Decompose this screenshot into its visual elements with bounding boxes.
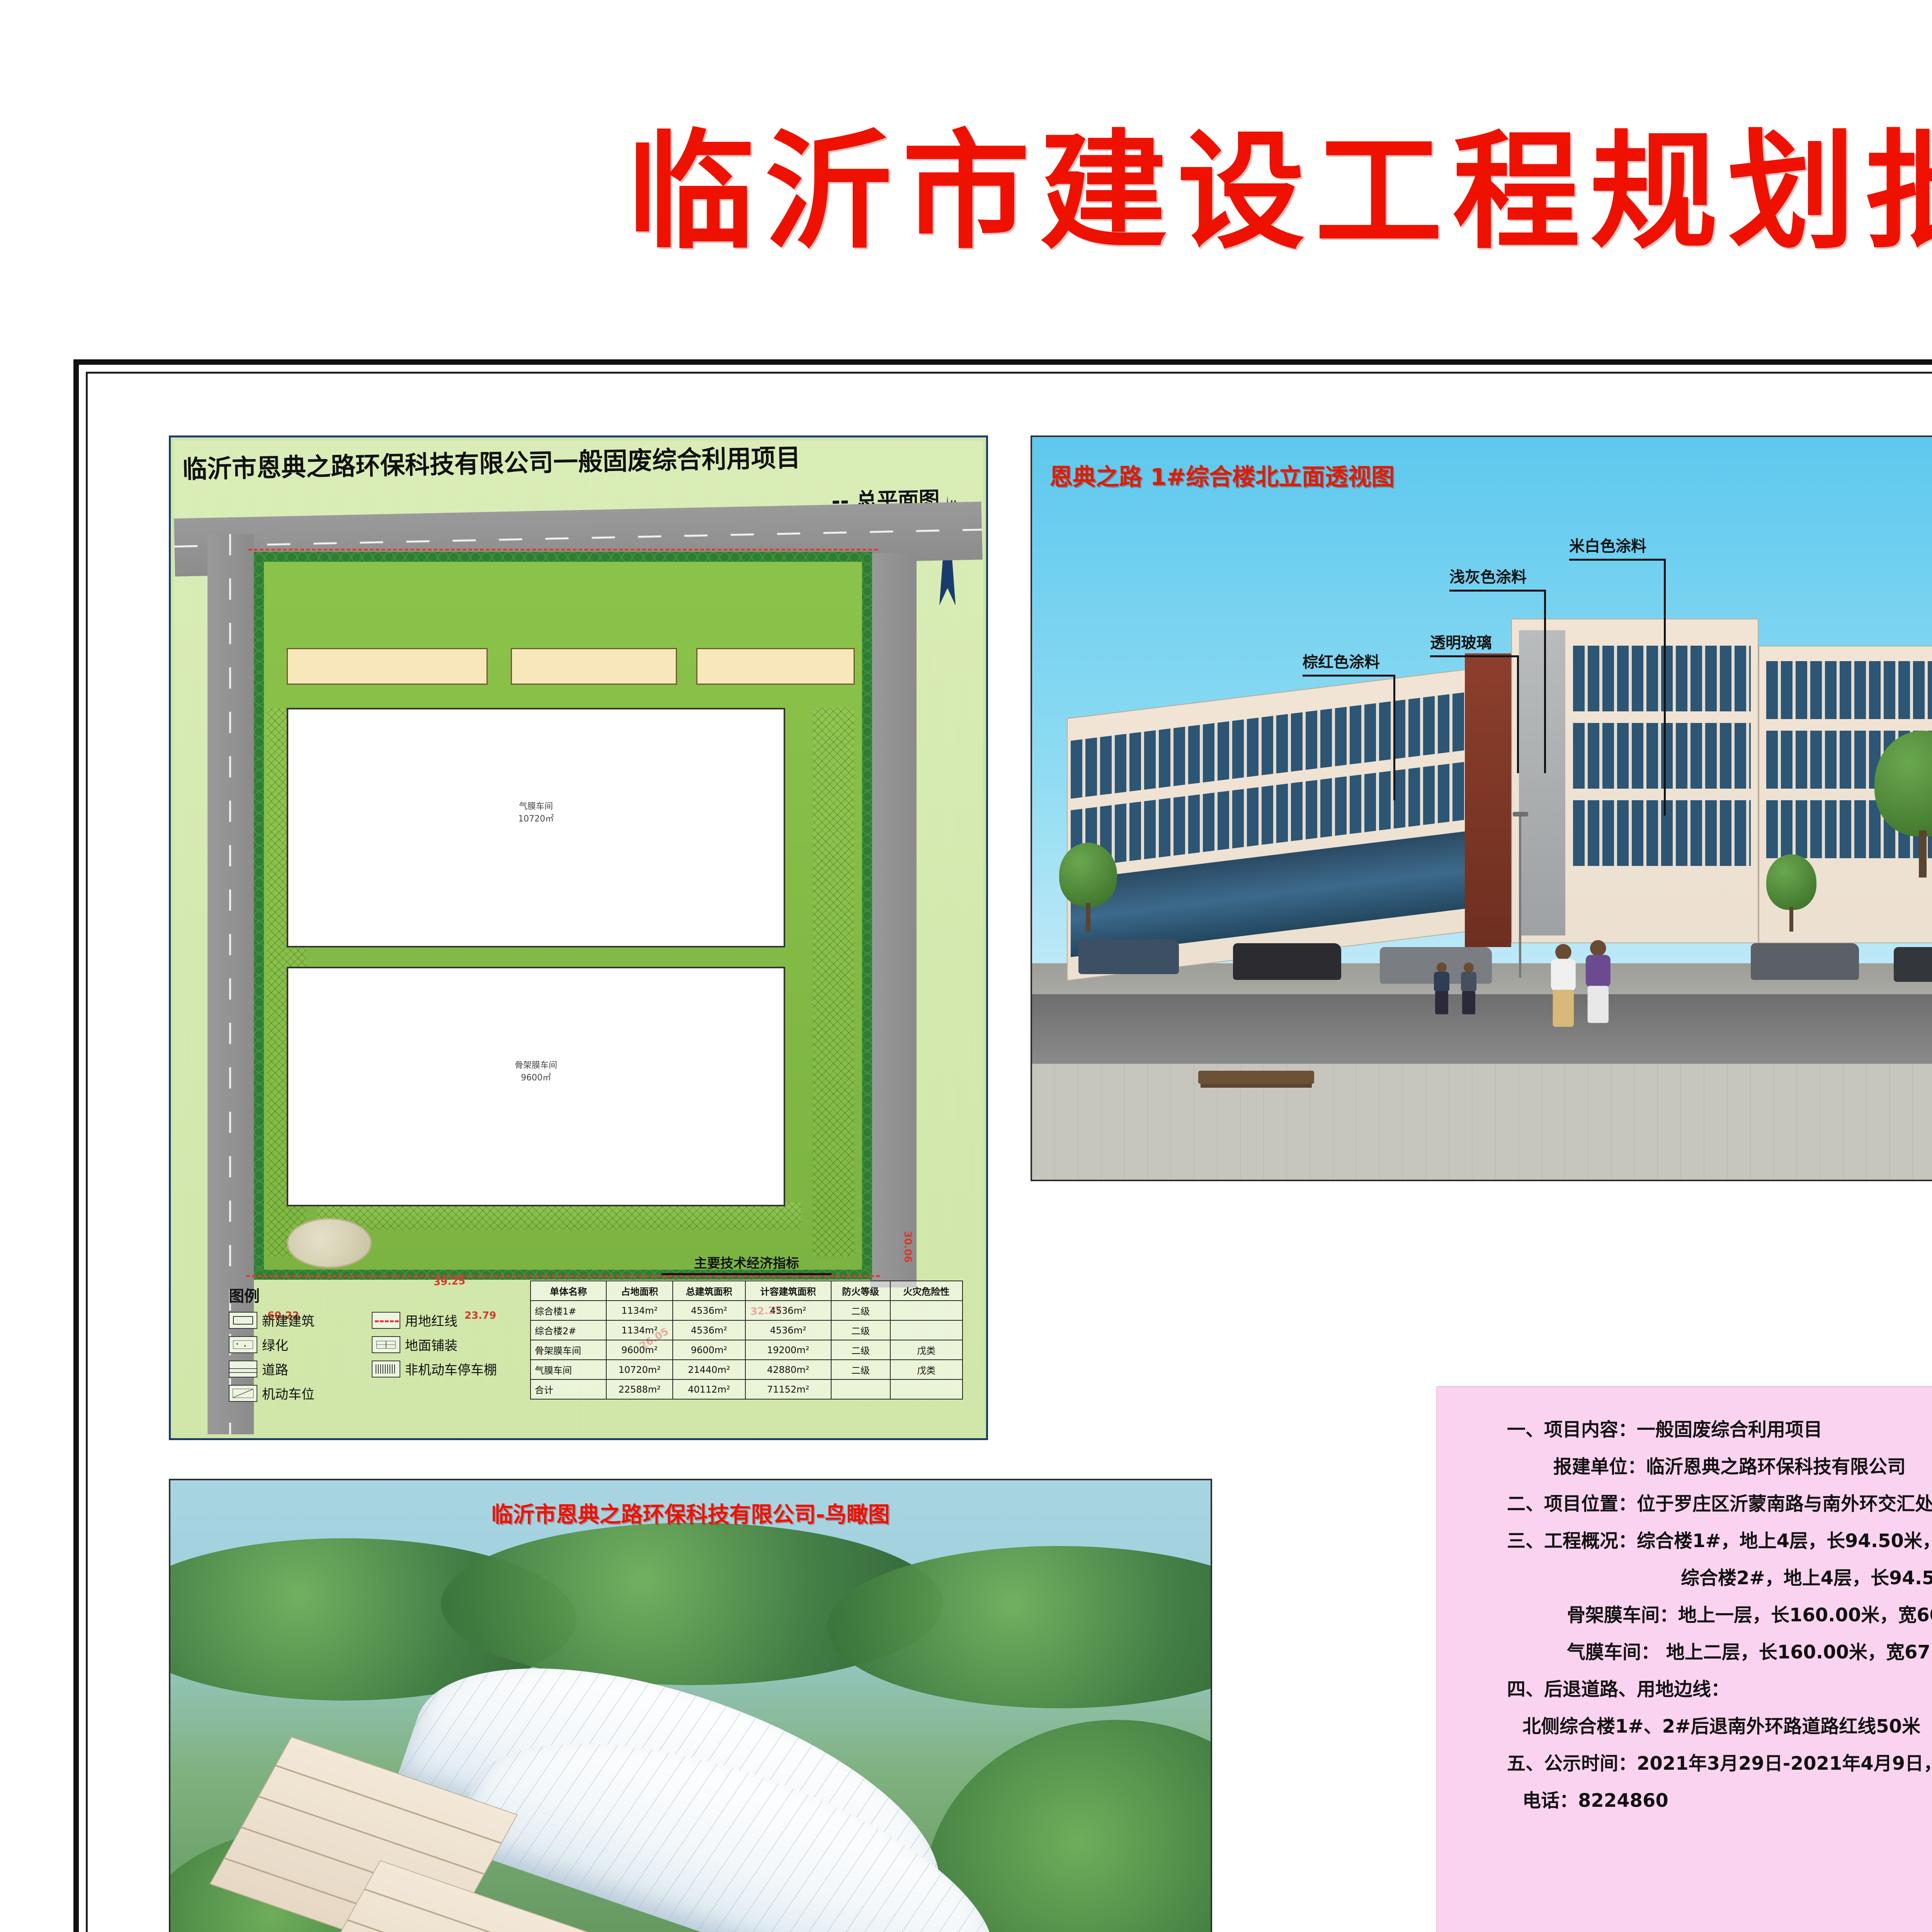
table-cell: 1134m²	[606, 1301, 673, 1320]
site-building-label-2: 骨架膜车间9600㎡	[288, 1058, 784, 1083]
table-cell: 气膜车间	[531, 1360, 606, 1379]
table-cell: 4536m²	[673, 1301, 745, 1320]
economic-indicators: 主要技术经济指标 单体名称占地面积总建筑面积计容建筑面积防火等级火灾危险性 综合…	[530, 1253, 963, 1400]
callout-label: 棕红色涂料	[1303, 650, 1380, 672]
notice-line: 北侧综合楼1#、2#后退南外环路道路红线50米	[1507, 1717, 1932, 1736]
legend-label: 用地红线	[405, 1311, 457, 1330]
site-hedge-north	[254, 552, 872, 562]
table-header-cell: 计容建筑面积	[745, 1281, 831, 1301]
table-cell: 综合楼2#	[531, 1320, 606, 1340]
table-cell: 二级	[831, 1301, 890, 1320]
economic-indicators-title: 主要技术经济指标	[662, 1253, 832, 1275]
table-cell: 4536m²	[673, 1320, 745, 1340]
site-parking-south	[318, 1202, 801, 1230]
render-1-callout-1: 棕红色涂料	[1303, 561, 1395, 677]
table-row: 综合楼2#1134m²4536m²4536m²二级	[531, 1320, 963, 1340]
legend-label: 地面铺装	[405, 1335, 457, 1354]
notice-line: 一、项目内容：一般固废综合利用项目	[1507, 1420, 1932, 1439]
table-cell: 二级	[831, 1340, 890, 1360]
table-cell: 1134m²	[606, 1320, 673, 1340]
legend-item-new-building: 新建建筑	[229, 1311, 372, 1330]
legend-item-road: 道路	[229, 1359, 372, 1378]
table-cell: 戊类	[890, 1360, 963, 1379]
table-cell: 戊类	[890, 1340, 963, 1360]
render-1-callout-3: 浅灰色涂料	[1449, 503, 1546, 592]
render-1-sidewalk	[1032, 1064, 1932, 1180]
legend-label: 机动车位	[262, 1384, 315, 1403]
site-plaza-circle	[287, 1218, 372, 1268]
page-title: 临沂市建设工程规划批前公示	[0, 128, 1932, 255]
table-cell: 21440m²	[673, 1360, 745, 1379]
site-plan-legend: 图例 新建建筑 用地红线 绿化	[229, 1284, 515, 1408]
site-parking-east	[812, 708, 855, 1257]
table-cell: 40112m²	[673, 1379, 745, 1399]
table-cell: 10720m²	[606, 1360, 673, 1379]
site-plan-panel[interactable]: 临沂市恩典之路环保科技有限公司一般固废综合利用项目 -- 总平面图 北	[169, 435, 988, 1440]
table-cell	[890, 1320, 963, 1340]
callout-label: 米白色涂料	[1569, 534, 1646, 556]
site-road-east	[870, 553, 917, 1287]
render-1-car-4	[1751, 943, 1859, 980]
callout-label: 浅灰色涂料	[1449, 565, 1527, 587]
table-header-cell: 单体名称	[531, 1281, 606, 1301]
render-1-tree-2	[1874, 731, 1932, 878]
notice-list: 一、项目内容：一般固废综合利用项目报建单位：临沂恩典之路环保科技有限公司二、项目…	[1507, 1420, 1932, 1828]
table-cell: 71152m²	[745, 1379, 831, 1399]
table-header-cell: 占地面积	[606, 1281, 673, 1301]
site-building-air-dome: 气膜车间10720㎡	[287, 708, 785, 947]
render-1-person-2	[1461, 963, 1476, 1015]
economic-indicators-table: 单体名称占地面积总建筑面积计容建筑面积防火等级火灾危险性 综合楼1#1134m²…	[530, 1281, 963, 1400]
poster-frame: 临沂市恩典之路环保科技有限公司一般固废综合利用项目 -- 总平面图 北	[73, 359, 1932, 1932]
render-1-person-4	[1581, 940, 1616, 1082]
paving-icon	[372, 1336, 400, 1353]
render-1-callout-4: 米白色涂料	[1569, 472, 1666, 561]
poster-inner-border: 临沂市恩典之路环保科技有限公司一般固废综合利用项目 -- 总平面图 北	[86, 372, 1932, 1932]
render-1-person-1	[1434, 963, 1449, 1015]
table-header-cell: 火灾危险性	[890, 1281, 963, 1301]
notice-line: 三、工程概况：综合楼1#，地上4层，长94.50米，宽12.00米，高18.30…	[1507, 1532, 1932, 1550]
callout-label: 透明玻璃	[1430, 630, 1492, 653]
render-1-bench	[1198, 1071, 1314, 1084]
render-1-windows-c1	[1573, 646, 1751, 711]
legend-label: 非机动车停车棚	[405, 1359, 497, 1378]
table-cell: 二级	[831, 1320, 890, 1340]
notice-box: 一、项目内容：一般固废综合利用项目报建单位：临沂恩典之路环保科技有限公司二、项目…	[1436, 1386, 1932, 1932]
render-1-grey-accent	[1519, 630, 1565, 935]
aerial-view-title: 临沂市恩典之路环保科技有限公司-鸟瞰图	[491, 1497, 889, 1529]
legend-grid: 新建建筑 用地红线 绿化 地面铺装	[229, 1311, 515, 1408]
table-row: 合计22588m²40112m²71152m²	[531, 1379, 963, 1399]
table-header-cell: 防火等级	[831, 1281, 890, 1301]
site-building-frame-membrane: 骨架膜车间9600㎡	[287, 967, 785, 1206]
table-cell: 综合楼1#	[531, 1301, 606, 1320]
legend-item-red-line: 用地红线	[372, 1311, 515, 1330]
legend-label: 道路	[262, 1359, 288, 1378]
site-shed-2	[511, 648, 677, 685]
road-icon	[229, 1361, 257, 1378]
table-row: 气膜车间10720m²21440m²42880m²二级戊类	[531, 1360, 963, 1379]
site-shed-3	[696, 648, 855, 685]
red-line-icon	[372, 1312, 400, 1329]
notice-line: 骨架膜车间：地上一层，长160.00米，宽60.00米，高18.00米，建筑面积…	[1507, 1606, 1932, 1624]
notice-line: 报建单位：临沂恩典之路环保科技有限公司	[1507, 1458, 1932, 1476]
notice-line: 五、公示时间：2021年3月29日-2021年4月9日，利害关系人如有异议，可在…	[1507, 1754, 1932, 1773]
render-1-tree-3	[1766, 854, 1816, 932]
legend-item-bike-shed: 非机动车停车棚	[372, 1359, 515, 1378]
render-1-windows-r1	[1766, 661, 1932, 719]
site-redline-north	[248, 549, 878, 551]
table-cell: 骨架膜车间	[531, 1340, 606, 1360]
table-cell: 4536m²	[745, 1320, 831, 1340]
notice-line: 综合楼2#，地上4层，长94.50米，宽12.00米，高18.30米，面积453…	[1507, 1569, 1932, 1587]
render-1-road	[1032, 994, 1932, 1064]
table-cell	[890, 1379, 963, 1399]
render-1-car-2	[1233, 943, 1341, 980]
render-1-streetlamp	[1519, 816, 1521, 978]
legend-item-greenery: 绿化	[229, 1335, 372, 1354]
table-cell: 4536m²	[745, 1301, 831, 1320]
table-cell: 22588m²	[606, 1379, 673, 1399]
notice-line: 二、项目位置：位于罗庄区沂蒙南路与南外环交汇处西路南	[1507, 1495, 1932, 1513]
bike-shed-icon	[372, 1361, 400, 1378]
site-hedge-east	[862, 553, 872, 1280]
table-row: 综合楼1#1134m²4536m²4536m²二级	[531, 1301, 963, 1320]
aerial-view-panel[interactable]: 临沂市恩典之路环保科技有限公司-鸟瞰图	[169, 1479, 1212, 1932]
rendering-panel-1[interactable]: 恩典之路 1#综合楼北立面透视图	[1031, 435, 1932, 1181]
site-hedge-west	[254, 553, 264, 1280]
render-1-windows-c3	[1573, 800, 1751, 866]
new-building-icon	[229, 1312, 257, 1329]
table-cell: 42880m²	[745, 1360, 831, 1379]
render-1-tree-1	[1059, 843, 1117, 932]
notice-line: 气膜车间： 地上二层，长160.00米，宽67.00米，高23.00米，建筑面积…	[1507, 1643, 1932, 1662]
legend-item-paving: 地面铺装	[372, 1335, 515, 1354]
notice-line: 四、后退道路、用地边线：	[1507, 1680, 1932, 1699]
table-cell	[890, 1301, 963, 1320]
table-cell: 19200m²	[745, 1340, 831, 1360]
render-1-brown-accent	[1465, 653, 1511, 947]
table-cell	[831, 1379, 890, 1399]
table-header-row: 单体名称占地面积总建筑面积计容建筑面积防火等级火灾危险性	[531, 1281, 963, 1301]
legend-label: 新建建筑	[262, 1311, 315, 1330]
render-1-person-3	[1546, 944, 1581, 1086]
rendering-1-title: 恩典之路 1#综合楼北立面透视图	[1049, 458, 1395, 492]
notice-line: 电话：8224860	[1507, 1791, 1932, 1810]
table-cell: 合计	[531, 1379, 606, 1399]
site-building-label-1: 气膜车间10720㎡	[288, 799, 784, 824]
table-header-cell: 总建筑面积	[673, 1281, 745, 1301]
legend-title: 图例	[229, 1284, 515, 1306]
render-1-car-5	[1894, 947, 1932, 982]
site-shed-1	[287, 648, 488, 685]
greenery-icon	[229, 1336, 257, 1353]
table-cell: 9600m²	[606, 1340, 673, 1360]
table-row: 骨架膜车间9600m²9600m²19200m²二级戊类	[531, 1340, 963, 1360]
legend-item-car-park: 机动车位	[229, 1384, 372, 1403]
render-1-car-1	[1078, 939, 1179, 974]
legend-label: 绿化	[262, 1335, 288, 1354]
table-cell: 二级	[831, 1360, 890, 1379]
render-1-windows-c2	[1573, 723, 1751, 789]
table-cell: 9600m²	[673, 1340, 745, 1360]
car-park-icon	[229, 1385, 257, 1402]
